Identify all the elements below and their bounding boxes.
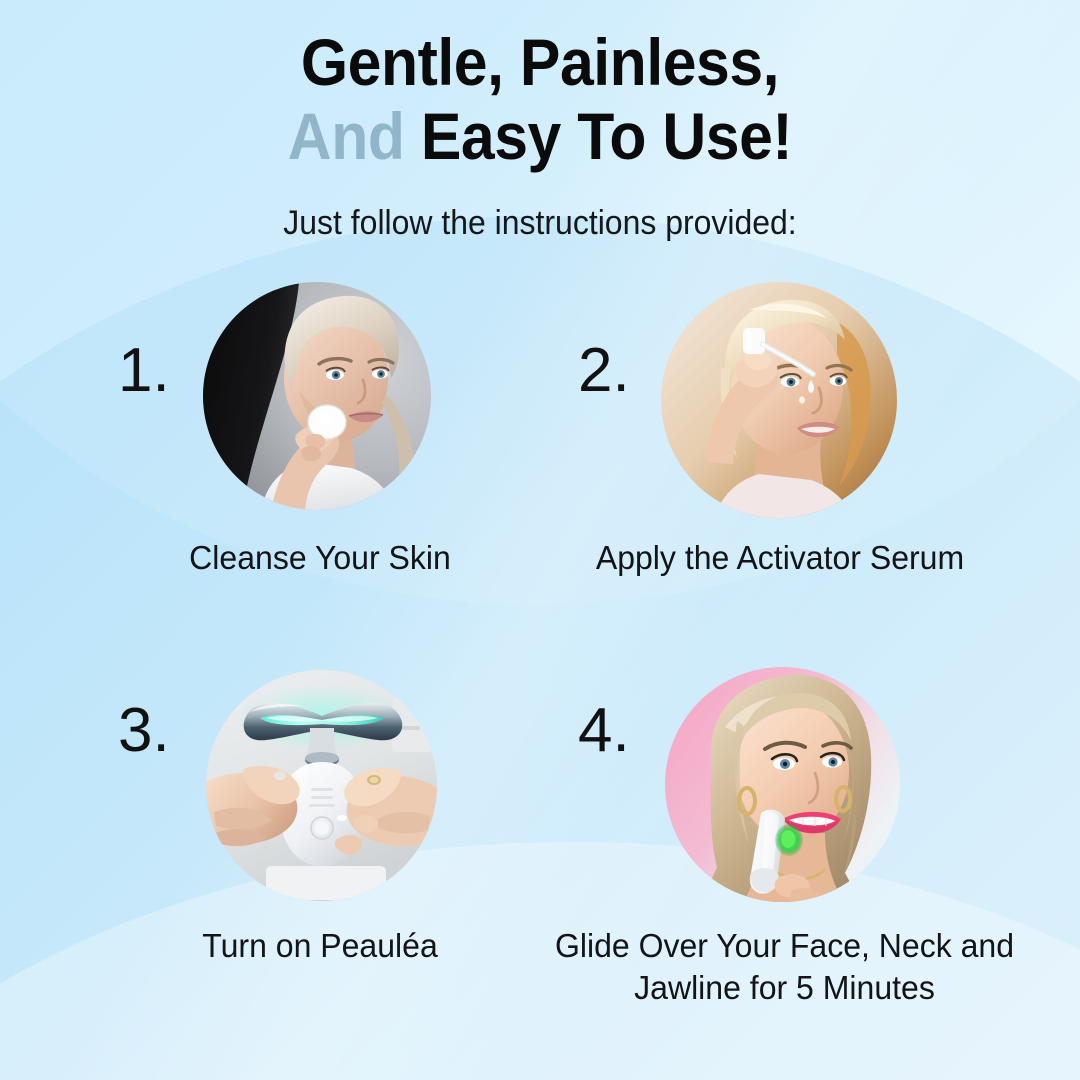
- headline-line-2-rest: Easy To Use!: [404, 99, 792, 173]
- page-subheadline: Just follow the instructions provided:: [32, 204, 1047, 243]
- infographic-page: Gentle, Painless, And Easy To Use! Just …: [0, 0, 1080, 1080]
- step-image-2: [661, 282, 897, 518]
- step-number-2: 2.: [578, 340, 630, 402]
- step-caption-2: Apply the Activator Serum: [528, 537, 1032, 579]
- step-number-4: 4.: [578, 700, 630, 762]
- step-number-3: 3.: [118, 700, 170, 762]
- step-caption-4: Glide Over Your Face, Neck and Jawline f…: [520, 925, 1049, 1009]
- page-headline: Gentle, Painless, And Easy To Use!: [43, 26, 1037, 174]
- headline-line-1: Gentle, Painless,: [301, 25, 779, 99]
- step-caption-1: Cleanse Your Skin: [68, 537, 572, 579]
- step-caption-3: Turn on Peauléa: [68, 925, 572, 967]
- step-image-1: [203, 282, 431, 510]
- step-number-1: 1.: [118, 340, 170, 402]
- headline-word-and: And: [288, 99, 405, 173]
- steps-grid: 1.: [0, 262, 1080, 1062]
- step-image-4: [665, 667, 900, 902]
- step-image-3: [206, 670, 437, 901]
